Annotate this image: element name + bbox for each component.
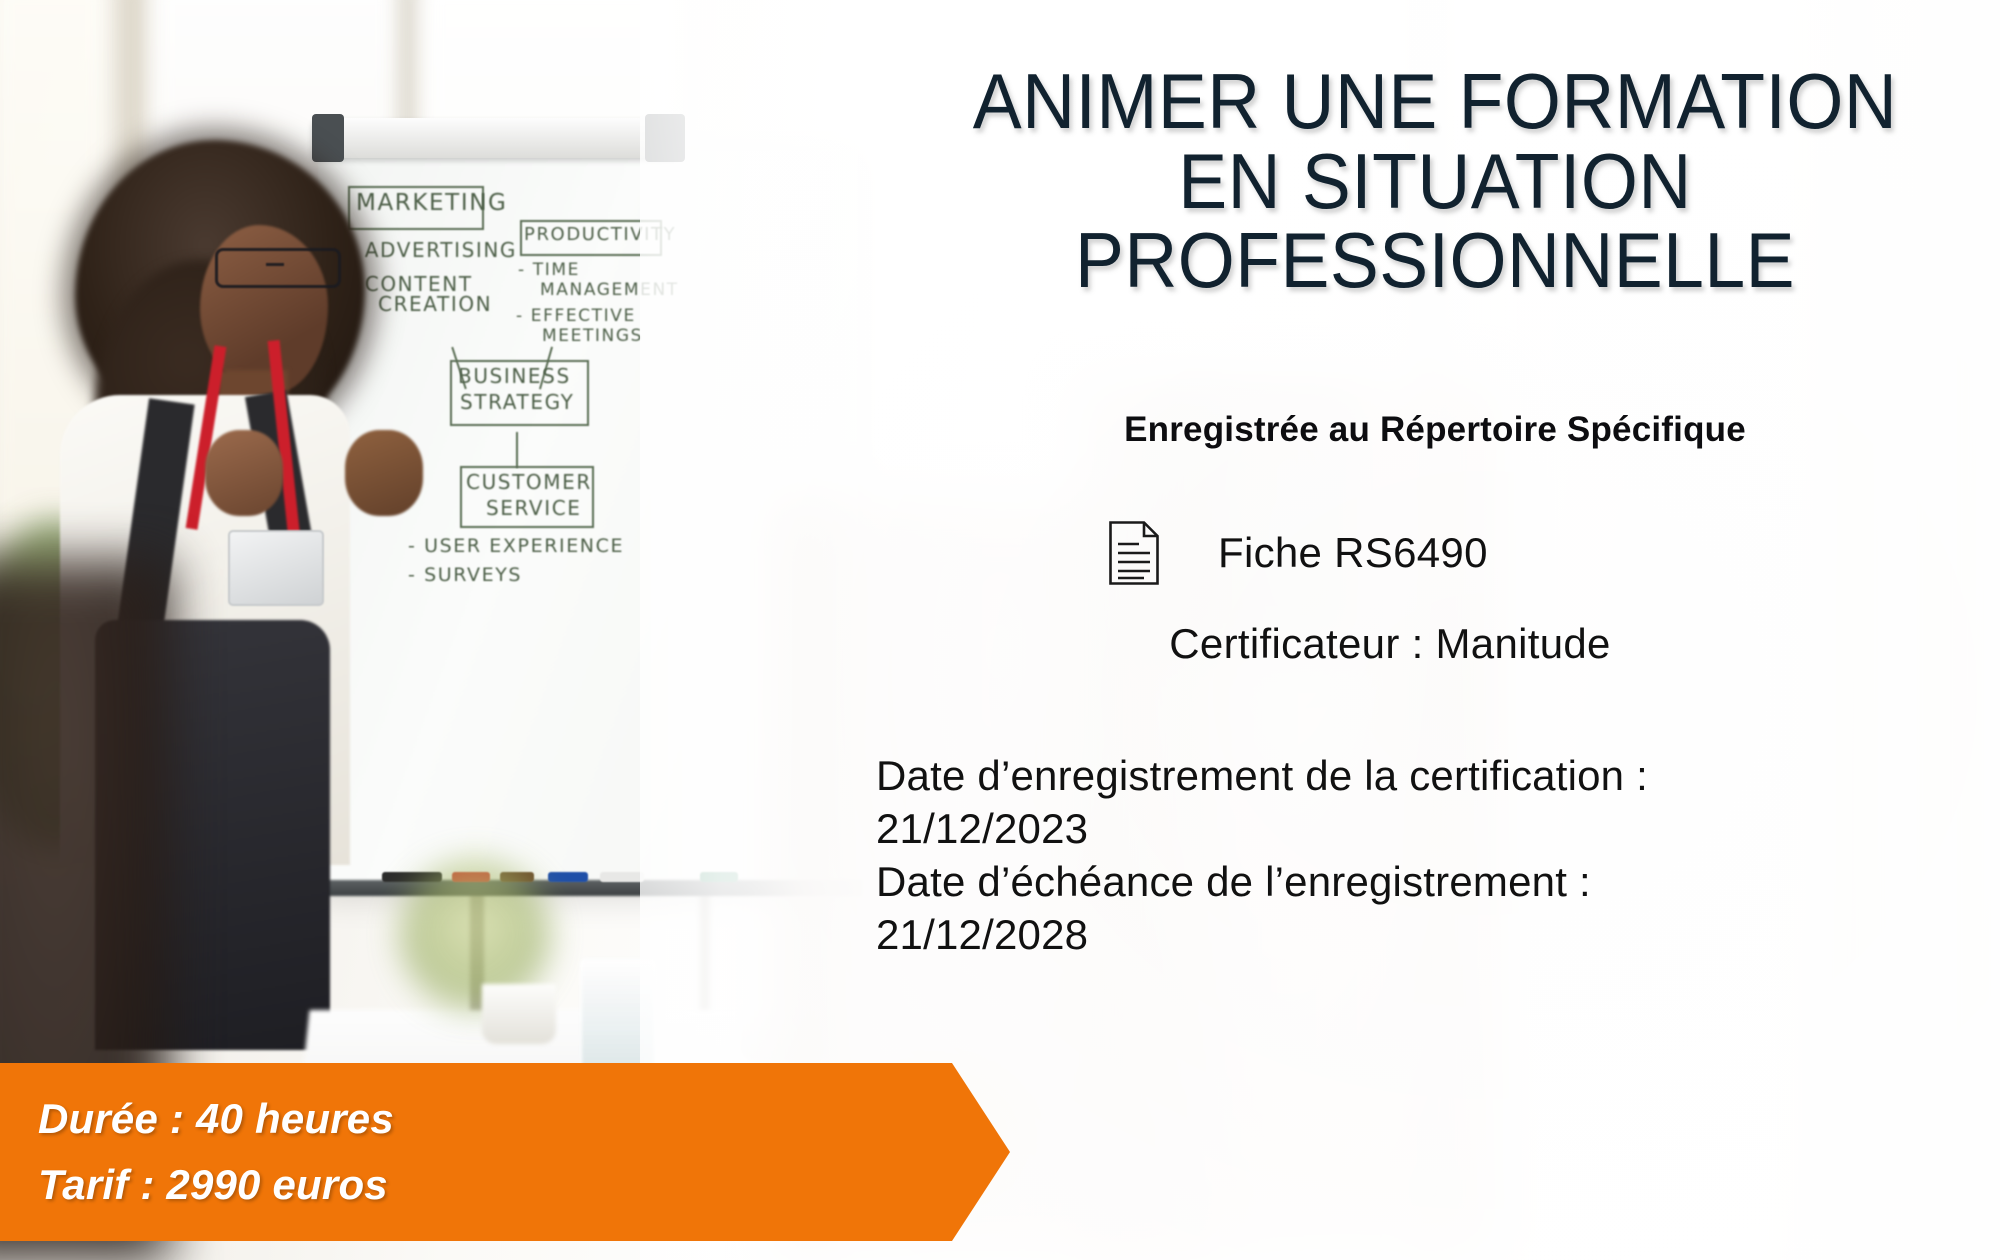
presenter-hand (345, 430, 423, 516)
flipchart-text-strategy: STRATEGY (460, 390, 575, 414)
banner-duration: Durée : 40 heures (38, 1095, 1010, 1143)
date-registration-value: 21/12/2023 (876, 803, 1976, 856)
date-expiry-value: 21/12/2028 (876, 909, 1976, 962)
flipchart-text-meetings: MEETINGS (542, 326, 643, 346)
flipchart-text-effective: - EFFECTIVE (516, 306, 636, 326)
subtitle: Enregistrée au Répertoire Spécifique (880, 410, 1990, 450)
flipchart-text-creation: CREATION (378, 292, 492, 316)
coffee-cup (482, 984, 556, 1044)
flipchart-text-time: - TIME (518, 260, 580, 280)
info-banner: Durée : 40 heures Tarif : 2990 euros (0, 1063, 1010, 1241)
flipchart-text-business: BUSINESS (458, 364, 571, 388)
presenter-hand (205, 430, 283, 516)
marker-white (600, 872, 644, 882)
flipchart-rail (312, 118, 680, 158)
flipchart-connector (516, 432, 518, 468)
flipchart-text-service: SERVICE (486, 496, 582, 520)
flipchart-text-surveys: - SURVEYS (408, 564, 522, 586)
document-icon (1108, 520, 1160, 586)
flipchart-text-marketing: MARKETING (356, 190, 507, 216)
certificateur-label: Certificateur : Manitude (880, 620, 1900, 668)
marker-blue (548, 872, 588, 882)
title-line-1: ANIMER UNE FORMATION (913, 62, 1956, 142)
flipchart-text-advertising: - ADVERTISING (348, 238, 517, 262)
flipchart-text-user-experience: - USER EXPERIENCE (408, 535, 624, 557)
title-line-3: PROFESSIONNELLE (913, 221, 1956, 301)
presenter-glasses (215, 248, 341, 288)
fiche-row: Fiche RS6490 (1108, 520, 1488, 586)
flipchart-text-customer: CUSTOMER (466, 470, 592, 494)
fiche-label: Fiche RS6490 (1218, 529, 1488, 577)
certification-poster: MARKETING - ADVERTISING - CONTENT CREATI… (0, 0, 2000, 1260)
banner-price: Tarif : 2990 euros (38, 1161, 1010, 1209)
date-expiry-label: Date d’échéance de l’enregistrement : (876, 856, 1976, 909)
flipchart-clip (312, 114, 344, 162)
text-content: ANIMER UNE FORMATION EN SITUATION PROFES… (880, 0, 2000, 1260)
title-line-2: EN SITUATION (913, 142, 1956, 222)
presenter-badge (228, 530, 324, 606)
date-registration-label: Date d’enregistrement de la certificatio… (876, 750, 1976, 803)
page-title: ANIMER UNE FORMATION EN SITUATION PROFES… (913, 62, 1956, 301)
dates-block: Date d’enregistrement de la certificatio… (876, 750, 1976, 962)
